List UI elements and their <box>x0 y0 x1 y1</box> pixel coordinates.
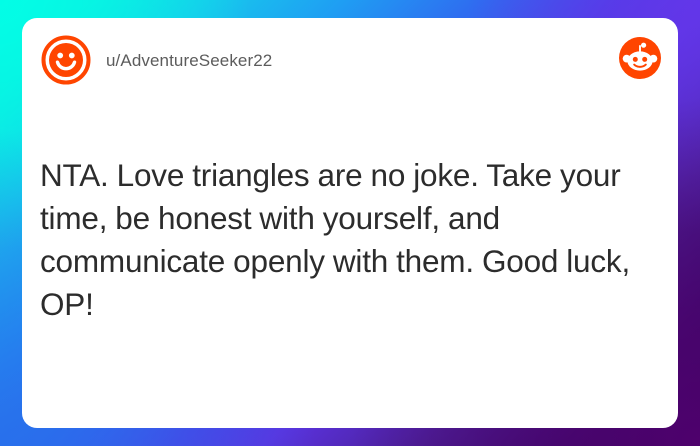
reddit-snoo-logo-icon[interactable] <box>618 36 662 80</box>
comment-card: u/AdventureSeeker22 <box>22 18 678 428</box>
comment-body-text: NTA. Love triangles are no joke. Take yo… <box>40 154 660 326</box>
card-header: u/AdventureSeeker22 <box>22 18 678 102</box>
reddit-comment-screenshot: u/AdventureSeeker22 <box>0 0 700 446</box>
card-body: NTA. Love triangles are no joke. Take yo… <box>40 154 660 326</box>
smiley-face-avatar-icon[interactable] <box>40 34 92 86</box>
username-label[interactable]: u/AdventureSeeker22 <box>106 51 272 71</box>
